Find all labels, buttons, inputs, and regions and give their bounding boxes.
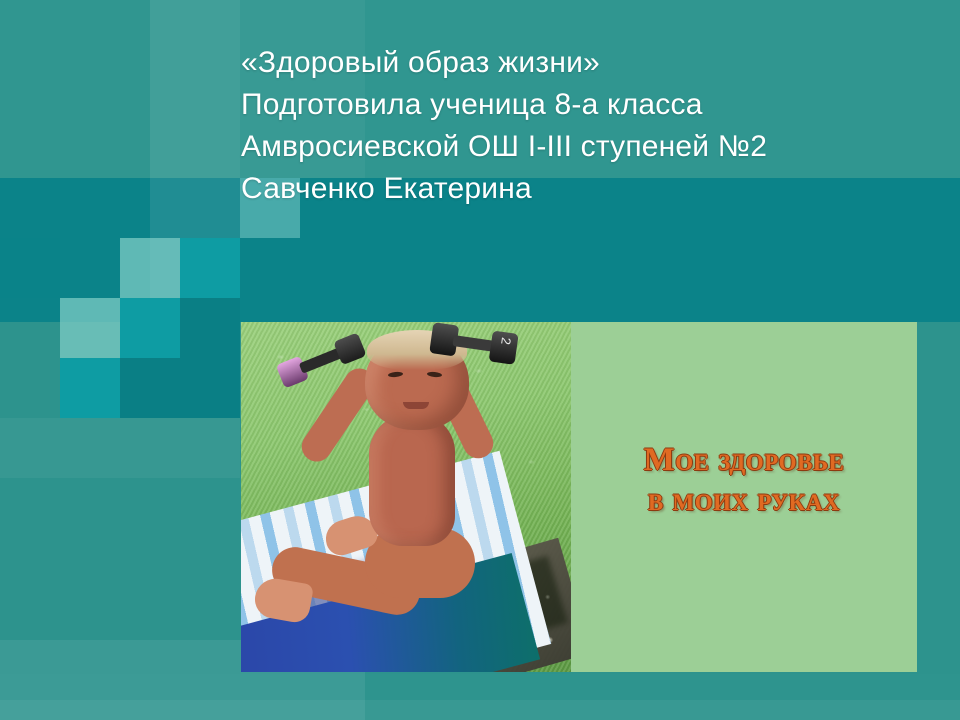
background-veil-column-d: [0, 700, 960, 720]
poster-slogan: Мое здоровье в моих руках: [571, 440, 917, 521]
photo-child-with-dumbbells: 2: [241, 322, 571, 672]
square-dark-1: [0, 238, 60, 298]
square-mid-3: [60, 358, 120, 418]
title-line-2: Подготовила ученица 8-а класса: [241, 84, 941, 126]
poster-slogan-line-1: Мое здоровье: [644, 442, 845, 478]
photo-child-mouth: [403, 402, 429, 409]
dumbbell-weight-label: 2: [493, 336, 514, 360]
square-light-2: [120, 238, 180, 298]
square-dark-3: [120, 358, 240, 418]
square-mid-2: [120, 298, 180, 358]
square-light-3: [60, 298, 120, 358]
square-mid-1: [180, 238, 240, 298]
square-dark-2: [180, 298, 240, 358]
title-line-1: «Здоровый образ жизни»: [241, 42, 941, 84]
title-line-3: Амвросиевской ОШ I-III ступеней №2: [241, 126, 941, 168]
square-veil-1: [0, 418, 240, 478]
photo-child-torso: [369, 414, 455, 546]
poster-slogan-line-2: в моих руках: [571, 480, 917, 520]
poster-panel: Мое здоровье в моих руках: [571, 322, 917, 672]
slide-title-block: «Здоровый образ жизни» Подготовила учени…: [241, 42, 941, 210]
title-line-4: Савченко Екатерина: [241, 168, 941, 210]
presentation-slide: «Здоровый образ жизни» Подготовила учени…: [0, 0, 960, 720]
